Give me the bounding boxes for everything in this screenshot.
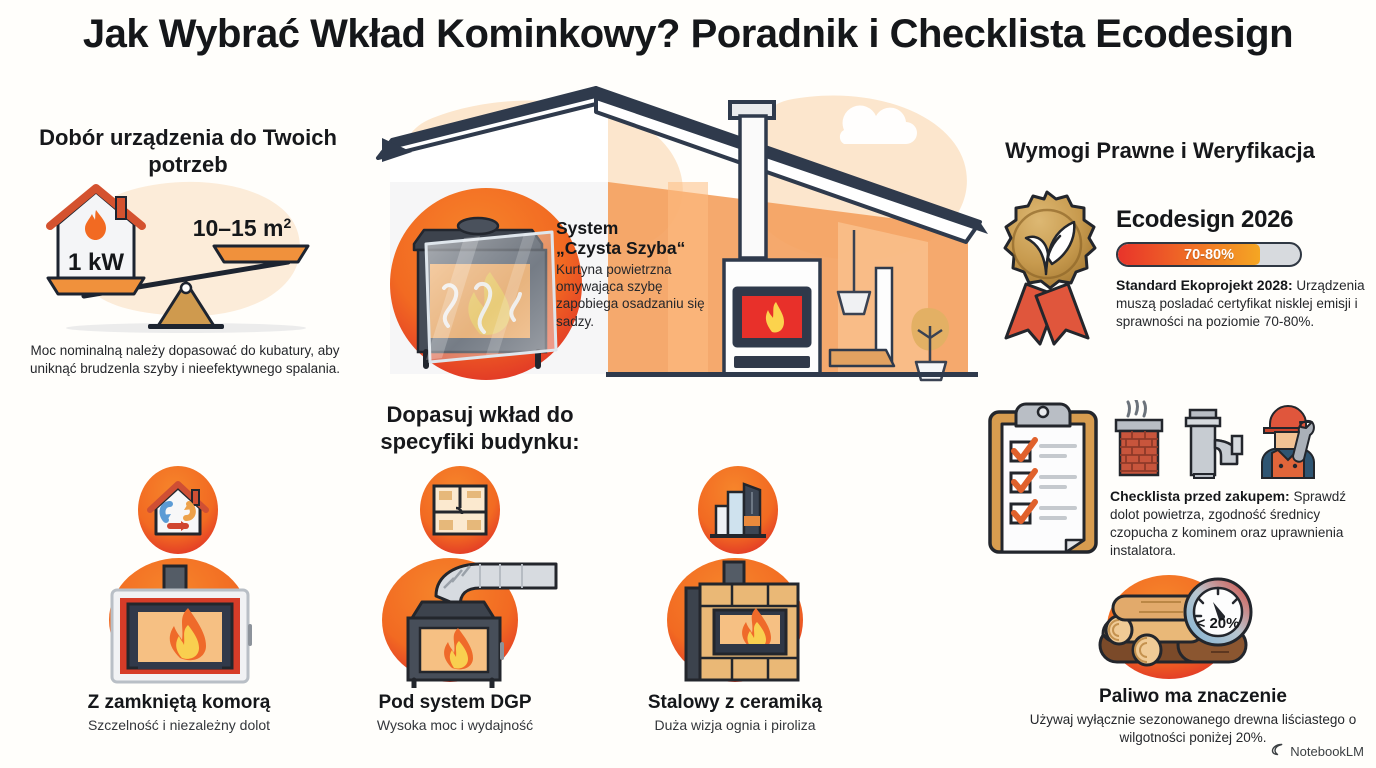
flue-pipe-icon bbox=[1186, 410, 1242, 478]
stove-card-steel-ceramic: Stalowy z ceramiką Duża wizja ognia i pi… bbox=[620, 558, 850, 733]
steel-ceramic-stove-icon bbox=[620, 558, 850, 688]
closed-chamber-stove-icon bbox=[64, 558, 294, 688]
stove-card-closed-chamber: Z zamkniętą komorą Szczelność i niezależ… bbox=[64, 558, 294, 733]
stove-card-label: Stalowy z ceramiką bbox=[620, 692, 850, 714]
firewood-with-moisture-meter-icon: < 20% bbox=[1085, 572, 1267, 682]
notebooklm-logo-icon bbox=[1270, 742, 1285, 760]
floor-plan-icon bbox=[412, 462, 508, 558]
verification-icons-row bbox=[1112, 400, 1332, 482]
scale-right-label: 10–15 m2 bbox=[193, 215, 292, 241]
right-column-heading: Wymogi Prawne i Weryfikacja bbox=[965, 138, 1355, 165]
scale-left-label: 1 kW bbox=[68, 249, 124, 276]
eco-award-medal-icon bbox=[982, 188, 1112, 348]
house-air-circulation-icon bbox=[130, 462, 226, 558]
standard-text-block: Standard Ekoprojekt 2028: Urządzenia mus… bbox=[1116, 276, 1368, 331]
left-column-heading: Dobór urządzenia do Twoich potrzeb bbox=[28, 125, 348, 179]
infographic-canvas: Jak Wybrać Wkład Kominkowy? Poradnik i C… bbox=[0, 0, 1376, 768]
efficiency-progress-bar: 70-80% bbox=[1116, 242, 1302, 267]
left-column-caption: Moc nominalną należy dopasować do kubatu… bbox=[30, 342, 340, 378]
fuel-text-block: Paliwo ma znaczenie Używaj wyłącznie sez… bbox=[1010, 686, 1376, 747]
stove-card-sub: Szczelność i niezależny dolot bbox=[64, 717, 294, 733]
page-title: Jak Wybrać Wkład Kominkowy? Poradnik i C… bbox=[0, 12, 1376, 57]
stove-card-label: Pod system DGP bbox=[340, 692, 570, 714]
ecodesign-block: Ecodesign 2026 70-80% Standard Ekoprojek… bbox=[1116, 206, 1368, 331]
efficiency-bar-value: 70-80% bbox=[1118, 244, 1300, 265]
callout-body: Kurtyna powietrzna omywająca szybę zapob… bbox=[556, 261, 721, 330]
standard-label: Standard Ekoprojekt 2028: bbox=[1116, 277, 1293, 293]
clean-glass-callout: System „Czysta Szyba“ Kurtyna powietrzna… bbox=[556, 218, 721, 330]
moisture-meter-label: < 20% bbox=[1197, 615, 1240, 632]
match-building-heading: Dopasuj wkład do specyfiki budynku: bbox=[345, 402, 615, 456]
callout-title-line2: „Czysta Szyba“ bbox=[556, 238, 721, 258]
dgp-duct-stove-icon bbox=[340, 558, 570, 688]
checklist-label: Checklista przed zakupem: bbox=[1110, 488, 1290, 504]
ecodesign-title: Ecodesign 2026 bbox=[1116, 206, 1368, 234]
callout-title-line1: System bbox=[556, 218, 721, 238]
brick-chimney-icon bbox=[1116, 400, 1162, 475]
modern-building-icon bbox=[690, 462, 786, 558]
checklist-text-block: Checklista przed zakupem: Sprawdź dolot … bbox=[1110, 487, 1364, 560]
stove-card-sub: Wysoka moc i wydajność bbox=[340, 717, 570, 733]
balance-scale-illustration: 10–15 m2 1 kW bbox=[36, 178, 336, 333]
stove-card-sub: Duża wizja ognia i piroliza bbox=[620, 717, 850, 733]
stove-card-dgp: Pod system DGP Wysoka moc i wydajność bbox=[340, 558, 570, 733]
clipboard-checklist-icon bbox=[984, 398, 1102, 558]
watermark: NotebookLM bbox=[1270, 742, 1364, 760]
fuel-label: Paliwo ma znaczenie bbox=[1010, 686, 1376, 708]
watermark-label: NotebookLM bbox=[1290, 744, 1364, 759]
installer-with-wrench-icon bbox=[1262, 406, 1314, 478]
stove-card-label: Z zamkniętą komorą bbox=[64, 692, 294, 714]
